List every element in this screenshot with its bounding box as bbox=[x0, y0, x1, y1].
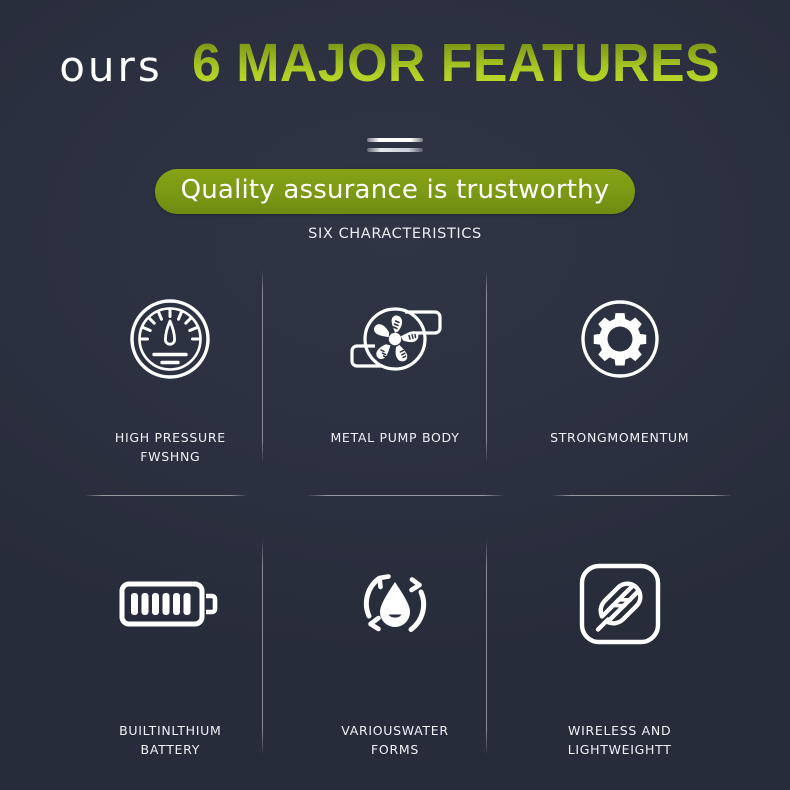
feature-poster: ours 6 MAJOR FEATURES Quality assurance … bbox=[0, 0, 790, 790]
feature-label: STRONGMOMENTUM bbox=[550, 428, 689, 447]
poster-header: ours 6 MAJOR FEATURES bbox=[0, 36, 790, 90]
subtitle: SIX CHARACTERISTICS bbox=[0, 226, 790, 242]
divider-line-bottom bbox=[367, 148, 423, 152]
feature-label: BUILTINLTHIUM BATTERY bbox=[119, 721, 221, 760]
feature-item-strong-momentum[interactable]: STRONGMOMENTUM bbox=[507, 258, 732, 511]
feather-lightweight-icon bbox=[574, 529, 666, 679]
feature-item-various-water-forms[interactable]: VARIOUSWATER FORMS bbox=[283, 511, 508, 764]
pressure-gauge-icon bbox=[122, 264, 218, 414]
feature-item-high-pressure[interactable]: HIGH PRESSURE FWSHNG bbox=[58, 258, 283, 511]
feature-item-metal-pump-body[interactable]: METAL PUMP BODY bbox=[283, 258, 508, 511]
feature-item-wireless-lightweight[interactable]: WIRELESS AND LIGHTWEIGHTT bbox=[507, 511, 732, 764]
quality-badge: Quality assurance is trustworthy bbox=[155, 169, 636, 214]
divider-line-top bbox=[367, 138, 423, 142]
gear-icon bbox=[574, 264, 666, 414]
badge-container: Quality assurance is trustworthy bbox=[0, 169, 790, 214]
title-main: 6 MAJOR FEATURES bbox=[192, 36, 720, 90]
feature-label: HIGH PRESSURE FWSHNG bbox=[115, 428, 226, 467]
feature-label: METAL PUMP BODY bbox=[330, 428, 459, 447]
water-droplet-recycle-icon bbox=[349, 529, 441, 679]
feature-label: VARIOUSWATER FORMS bbox=[341, 721, 448, 760]
battery-icon bbox=[118, 529, 222, 679]
title-prefix: ours bbox=[59, 46, 162, 88]
page-title: ours 6 MAJOR FEATURES bbox=[59, 36, 731, 90]
turbo-pump-icon bbox=[343, 264, 447, 414]
feature-item-builtin-lithium-battery[interactable]: BUILTINLTHIUM BATTERY bbox=[58, 511, 283, 764]
feature-label: WIRELESS AND LIGHTWEIGHTT bbox=[568, 721, 672, 760]
feature-grid: HIGH PRESSURE FWSHNG bbox=[58, 258, 732, 763]
header-divider bbox=[0, 138, 790, 152]
